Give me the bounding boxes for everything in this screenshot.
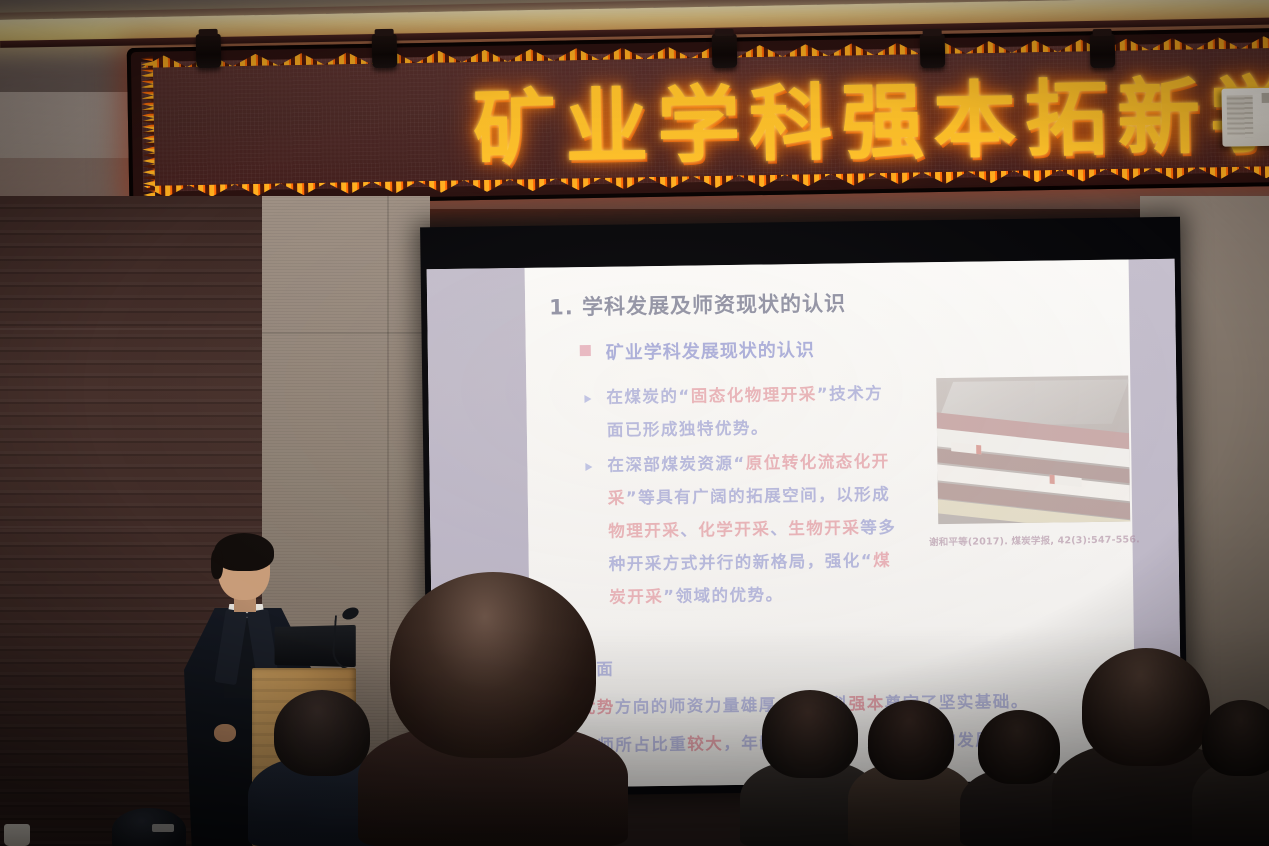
arrow-bullet-icon-2: [585, 463, 592, 471]
paper-cup: [4, 824, 30, 846]
square-bullet-icon: [580, 345, 591, 356]
audience-member: [1192, 700, 1269, 846]
led-banner-text: 矿业学科强本拓新学: [472, 50, 1269, 180]
arrow-bullet-icon-1: [584, 395, 591, 403]
audience-head: [1082, 648, 1210, 766]
audience-head: [274, 690, 370, 776]
presenter-hair: [214, 533, 274, 571]
audience-head: [868, 700, 954, 780]
audience-head: [1202, 700, 1269, 776]
wall-mounted-unit: [1221, 87, 1269, 146]
audience-head: [762, 690, 858, 778]
audience-member: [358, 572, 628, 846]
slide-bullet-2: 在深部煤炭资源“原位转化流态化开 采”等具有广阔的拓展空间，以形成 物理开采、化…: [607, 444, 925, 613]
spotlight-2: [372, 34, 398, 68]
slide-section-heading: 矿业学科发展现状的认识: [606, 336, 815, 365]
spotlight-3: [712, 34, 738, 68]
presenter-hand: [214, 724, 236, 742]
slide-title: 1. 学科发展及师资现状的认识: [549, 287, 846, 321]
slide-bullet-1: 在煤炭的“固态化物理开采”技术方 面已形成独特优势。: [606, 377, 907, 447]
audience-member: [848, 700, 974, 846]
audience-head: [390, 572, 596, 758]
spotlight-5: [1090, 34, 1116, 68]
audience-head: [978, 710, 1060, 784]
spotlight-1: [196, 34, 222, 68]
conference-hall-scene: 矿业学科强本拓新学 1. 学科发展及师资现状的认识 矿业学科发展现状的认识 在煤…: [0, 0, 1269, 846]
slide-figure-strata-diagram: [936, 375, 1130, 524]
microphone-arm: [331, 615, 355, 670]
audience-member-with-cap: [112, 808, 186, 846]
spotlight-4: [920, 34, 946, 68]
gooseneck-microphone: [330, 608, 360, 670]
